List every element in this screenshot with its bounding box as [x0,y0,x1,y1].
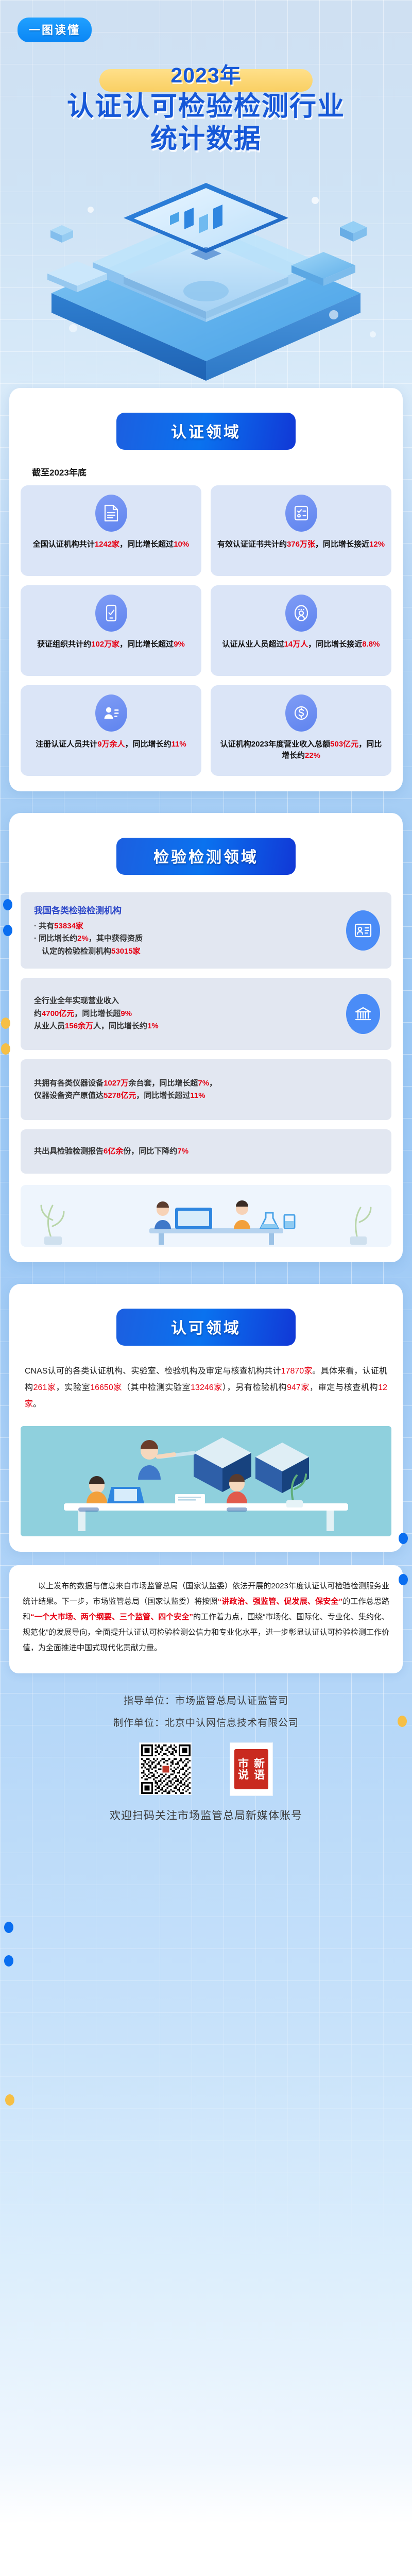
decor-dot-blue-3 [399,1533,408,1544]
stat-text-pre: 注册认证人员共计 [36,740,97,749]
note-part-red: “一个大市场、两个纲要、三个监管、四个安全” [30,1613,193,1621]
seal-char-3: 说 [238,1769,249,1781]
inspection-row-line: · 同比增长约2%，其中获得资质 [34,933,335,945]
inspection-row-line: 从业人员156余万人，同比增长约1% [34,1020,335,1032]
stat-value-1: 503亿元 [330,740,358,749]
stat-value-1: 14万人 [284,640,308,649]
section-recognition-title: 认可领域 [116,1309,296,1346]
p-part-red: 16650家 [90,1383,122,1392]
id-person-icon [95,694,127,732]
lab-scene-icon [21,1185,391,1247]
checklist-icon [285,495,317,532]
stat-text-pre: 全国认证机构共计 [33,540,95,549]
p-part: ，实验室 [56,1383,91,1392]
mobile-check-icon [95,595,127,632]
media-seal-logo[interactable]: 市 新 说 语 [230,1742,273,1796]
page-footer: 指导单位：市场监管总局认证监管司 制作单位：北京中认网信息技术有限公司 [0,1673,412,1843]
id-card-icon [346,910,380,951]
decor-dot-yellow-4 [5,2094,14,2106]
stat-value-2: 8.8% [362,640,380,649]
decor-dot-yellow-2 [1,1043,10,1055]
p-part: 。 [33,1400,41,1409]
office-scene-icon [21,1426,391,1536]
stat-card: 全国认证机构共计1242家，同比增长超过10% [21,485,201,576]
as-of-label: 截至2023年底 [32,465,391,478]
stat-card-text: 获证组织共计约102万家，同比增长超过9% [37,639,185,651]
stat-card-text: 注册认证人员共计9万余人，同比增长约11% [36,739,186,751]
title-line-2: 统计数据 [7,123,405,156]
year-row: 2023年 [0,60,412,91]
stat-card: 注册认证人员共计9万余人，同比增长约11% [21,685,201,776]
stat-card: 认证机构2023年度营业收入总额503亿元，同比增长约22% [211,685,391,776]
inspection-row-line: 认定的检验检测机构53015家 [34,945,335,958]
stat-card-text: 全国认证机构共计1242家，同比增长超过10% [33,539,189,551]
stat-text-pre: 有效认证证书共计约 [217,540,287,549]
decor-dot-blue-1 [3,899,12,910]
decor-dot-blue-4 [399,1574,408,1585]
inspection-row-line: 约4700亿元，同比增长超9% [34,1008,335,1020]
title-line-1: 认证认可检验检测行业 [67,92,345,122]
stat-card: 有效认证证书共计约376万张，同比增长接近12% [211,485,391,576]
inspection-row: 共出具检验检测报告6亿余份，同比下降约7% [21,1129,391,1174]
stat-card-text: 认证机构2023年度营业收入总额503亿元，同比增长约22% [217,739,385,762]
p-part: ，审定与核查机构 [310,1383,378,1392]
certification-stat-grid: 全国认证机构共计1242家，同比增长超过10% 有效认证证书共计约376万张，同… [21,485,391,776]
stat-card-text: 认证从业人员超过14万人，同比增长接近8.8% [222,639,380,651]
stat-card-text: 有效认证证书共计约376万张，同比增长接近12% [217,539,385,551]
stat-value-2: 12% [369,540,385,549]
inspection-row: 共拥有各类仪器设备1027万余台套，同比增长超7%， 仪器设备资产原值达5278… [21,1059,391,1120]
stat-card: 获证组织共计约102万家，同比增长超过9% [21,585,201,676]
inspection-row-line: 全行业全年实现营业收入 [34,995,335,1007]
section-certification: 认证领域 截至2023年底 全国认证机构共计1242家，同比增长超过10% [9,388,403,791]
stat-text-pre: 认证机构2023年度营业收入总额 [220,740,330,749]
person-badge-icon [285,595,317,632]
inspection-rows: 我国各类检验检测机构 · 共有53834家 · 同比增长约2%，其中获得资质 认… [21,892,391,1247]
produce-unit-line: 制作单位：北京中认网信息技术有限公司 [0,1715,412,1729]
title-block: 2023年 认证认可检验检测行业 统计数据 [0,60,412,156]
note-part-red: “讲政治、强监管、促发展、保安全” [218,1597,342,1606]
p-part: ），另有检验机构 [222,1383,287,1392]
footer-codes: 市 新 说 语 [0,1742,412,1796]
stat-text-pre: 认证从业人员超过 [222,640,284,649]
stat-text-mid: ，同比增长超过 [119,640,174,649]
page-title: 认证认可检验检测行业 统计数据 [0,91,412,156]
stat-value-2: 22% [305,751,320,760]
read-at-a-glance-badge: 一图读懂 [18,18,92,42]
qr-code-svg [141,1744,191,1794]
stat-value-2: 10% [174,540,189,549]
p-part-red: 17870家 [281,1367,313,1376]
hero-illustration [0,164,412,391]
p-part: CNAS认可的各类认证机构、实验室、检验机构及审定与核查机构共计 [25,1367,281,1376]
badge-wrapper: 一图读懂 [0,18,412,42]
footnote-card: 以上发布的数据与信息来自市场监管总局（国家认监委）依法开展的2023年度认证认可… [9,1565,403,1673]
decor-dot-blue-5 [4,1922,13,1933]
stat-text-mid: ，同比增长约 [125,740,171,749]
inspection-row-heading: 我国各类检验检测机构 [34,903,335,916]
p-part-red: 261家 [33,1383,56,1392]
qr-code-icon[interactable] [139,1742,192,1795]
stat-text-mid: ，同比增长接近 [308,640,362,649]
stat-value-2: 11% [171,740,186,749]
inspection-row: 我国各类检验检测机构 · 共有53834家 · 同比增长约2%，其中获得资质 认… [21,892,391,969]
page-header: 一图读懂 2023年 认证认可检验检测行业 统计数据 [0,0,412,391]
inspection-row-line: 仪器设备资产原值达5278亿元，同比增长超过11% [34,1090,378,1102]
decor-dot-yellow-3 [398,1716,407,1727]
section-inspection-title: 检验检测领域 [116,838,296,875]
stat-value-1: 102万家 [91,640,119,649]
p-part-red: 13246家 [191,1383,222,1392]
laptop-isometric-icon [0,164,412,391]
stat-value-2: 9% [174,640,185,649]
document-icon [95,495,127,532]
inspection-row-line: 共出具检验检测报告6亿余份，同比下降约7% [34,1145,378,1158]
infographic-page: 一图读懂 2023年 认证认可检验检测行业 统计数据 [0,0,412,2576]
stat-value-1: 9万余人 [97,740,125,749]
stat-text-pre: 获证组织共计约 [37,640,91,649]
recognition-illustration [21,1426,391,1536]
p-part-red: 947家 [287,1383,310,1392]
seal-char-2: 新 [254,1758,265,1769]
stat-card: 认证从业人员超过14万人，同比增长接近8.8% [211,585,391,676]
inspection-row-line: 共拥有各类仪器设备1027万余台套，同比增长超7%， [34,1077,378,1090]
stat-value-1: 1242家 [95,540,119,549]
stat-text-mid: ，同比增长接近 [315,540,369,549]
guide-unit-line: 指导单位：市场监管总局认证监管司 [0,1693,412,1707]
recognition-paragraph: CNAS认可的各类认证机构、实验室、检验机构及审定与核查机构共计17870家。具… [25,1363,387,1413]
seal-char-1: 市 [238,1758,249,1769]
lab-illustration [21,1185,391,1247]
section-inspection: 检验检测领域 我国各类检验检测机构 · 共有53834家 · 同比增长约2%，其… [9,813,403,1262]
section-certification-title: 认证领域 [116,413,296,450]
decor-dot-blue-2 [3,925,12,936]
section-recognition: 认可领域 CNAS认可的各类认证机构、实验室、检验机构及审定与核查机构共计178… [9,1284,403,1552]
p-part: （其中检测实验室 [122,1383,191,1392]
seal-inner: 市 新 说 语 [234,1749,268,1789]
dollar-coin-icon [285,694,317,732]
stat-text-mid: ，同比增长超过 [119,540,174,549]
year-text: 2023年 [170,60,241,91]
decor-dot-blue-6 [4,1955,13,1967]
seal-char-4: 语 [254,1769,265,1781]
inspection-row: 全行业全年实现营业收入 约4700亿元，同比增长超9% 从业人员156余万人，同… [21,978,391,1050]
decor-dot-yellow-1 [1,1018,10,1029]
inspection-row-line: · 共有53834家 [34,920,335,933]
bank-icon [346,994,380,1034]
footnote-text: 以上发布的数据与信息来自市场监管总局（国家认监委）依法开展的2023年度认证认可… [23,1579,389,1656]
scan-invite-text: 欢迎扫码关注市场监管总局新媒体账号 [0,1807,412,1823]
stat-value-1: 376万张 [287,540,315,549]
